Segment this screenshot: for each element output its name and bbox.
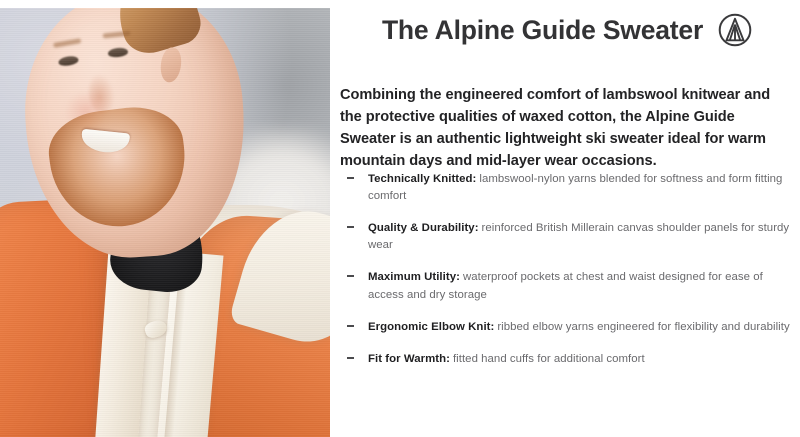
feature-label: Maximum Utility: xyxy=(368,271,460,283)
dash-bullet-icon xyxy=(347,325,354,327)
model-eye-left xyxy=(58,55,79,67)
model-ear xyxy=(160,46,183,82)
list-item: Maximum Utility:waterproof pockets at ch… xyxy=(344,269,796,303)
product-photo xyxy=(0,8,330,437)
intro-paragraph: Combining the engineered comfort of lamb… xyxy=(340,84,786,173)
product-copy-panel: The Alpine Guide Sweater Combining the e… xyxy=(330,0,800,437)
feature-label: Quality & Durability: xyxy=(368,222,479,234)
dash-bullet-icon xyxy=(347,177,354,179)
list-item: Technically Knitted:lambswool-nylon yarn… xyxy=(344,171,796,205)
feature-label: Ergonomic Elbow Knit: xyxy=(368,321,494,333)
list-item: Fit for Warmth:fitted hand cuffs for add… xyxy=(344,351,796,368)
model-beard xyxy=(45,101,193,234)
feature-description: ribbed elbow yarns engineered for flexib… xyxy=(497,321,789,333)
title-row: The Alpine Guide Sweater xyxy=(340,9,795,51)
product-detail-page: The Alpine Guide Sweater Combining the e… xyxy=(0,0,800,437)
dash-bullet-icon xyxy=(347,275,354,277)
model-eye-right xyxy=(108,47,128,58)
list-item: Quality & Durability:reinforced British … xyxy=(344,220,796,254)
circle-mountain-brand-icon xyxy=(717,12,753,48)
dash-bullet-icon xyxy=(347,226,354,228)
product-photo-panel xyxy=(0,8,330,437)
feature-label: Fit for Warmth: xyxy=(368,353,450,365)
list-item: Ergonomic Elbow Knit:ribbed elbow yarns … xyxy=(344,319,796,336)
dash-bullet-icon xyxy=(347,357,354,359)
page-title: The Alpine Guide Sweater xyxy=(382,15,703,46)
feature-description: fitted hand cuffs for additional comfort xyxy=(453,353,645,365)
feature-label: Technically Knitted: xyxy=(368,173,476,185)
model-brow-left xyxy=(53,38,82,48)
feature-list: Technically Knitted:lambswool-nylon yarn… xyxy=(344,171,796,368)
